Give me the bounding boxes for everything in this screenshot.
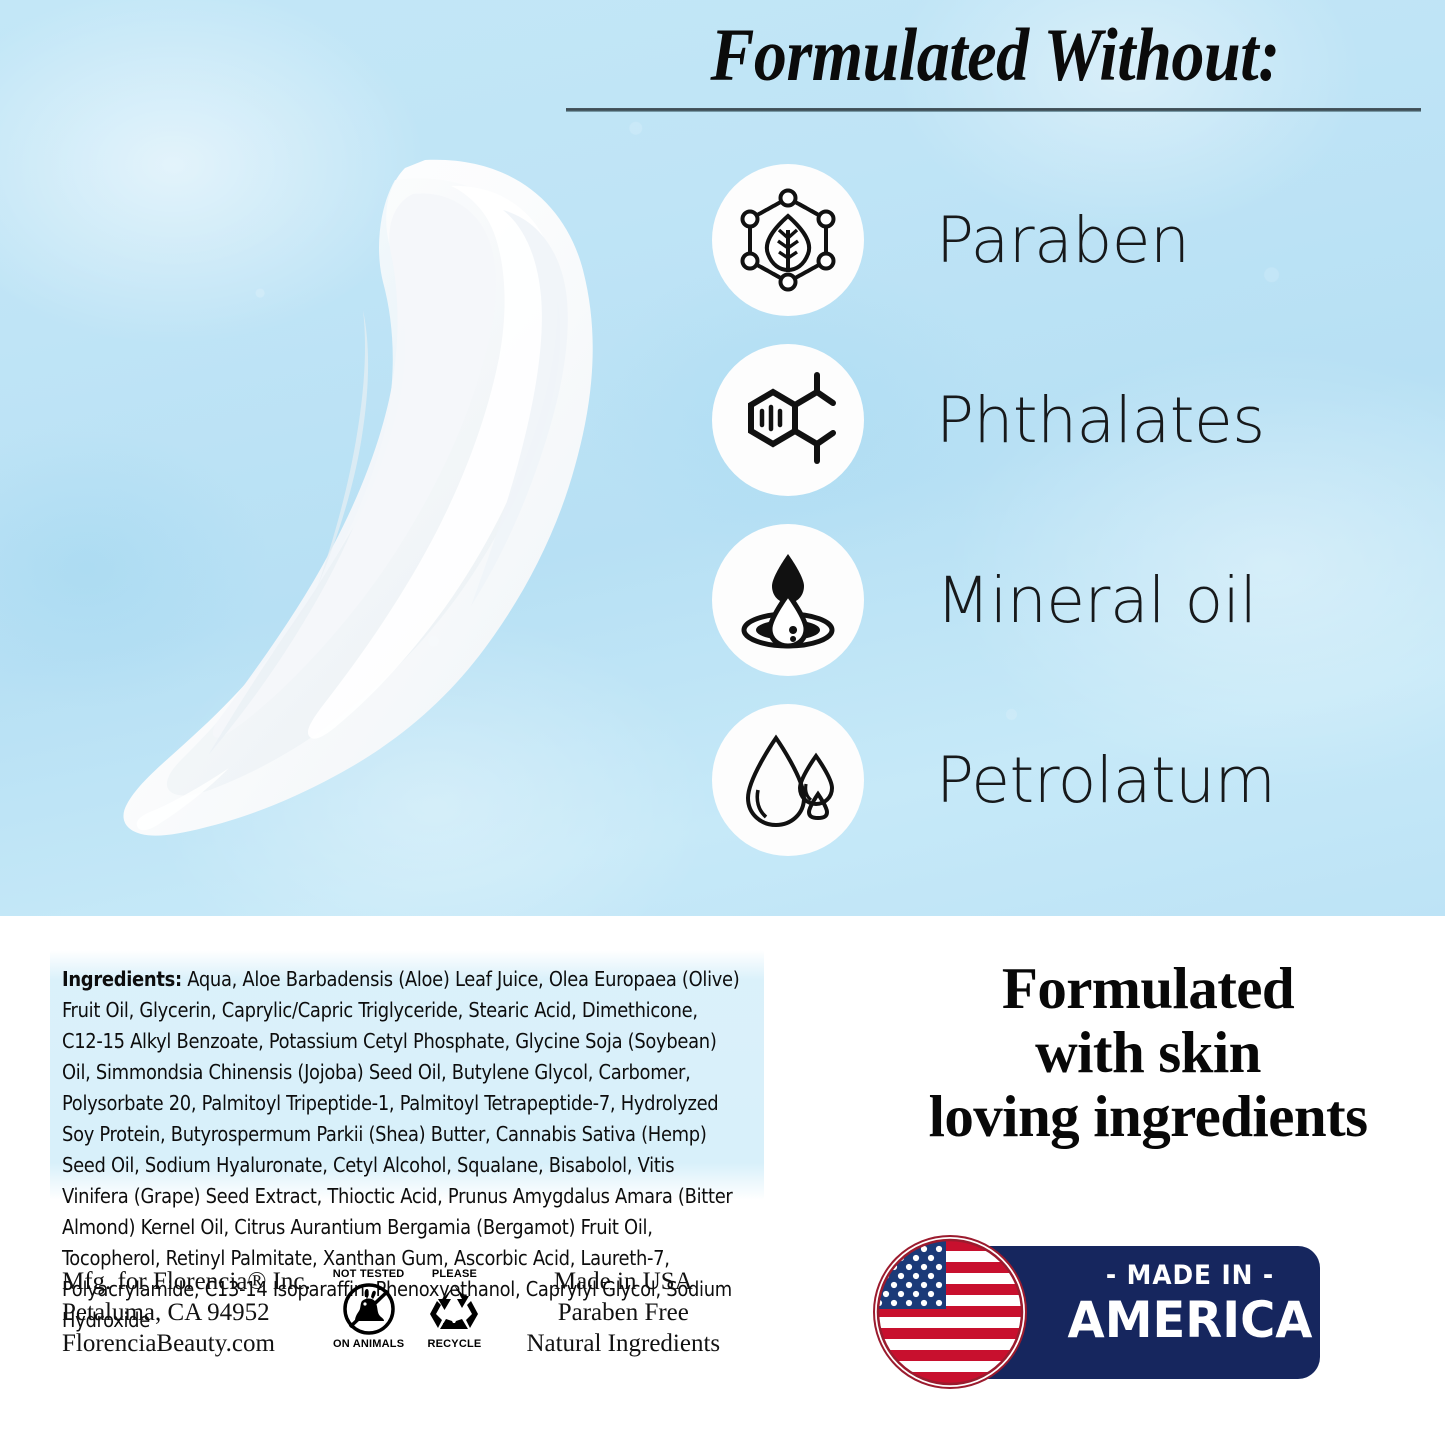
made-in-america-text: - MADE IN - AMERICA	[1060, 1260, 1320, 1348]
skin-headline-line-3: loving ingredients	[868, 1084, 1428, 1148]
recycle-symbol: PLEASE RECYCLE	[426, 1268, 482, 1350]
origin-claim-3: Natural Ingredients	[526, 1328, 720, 1359]
cruelty-free-symbol: NOT TESTED ON ANIMALS	[333, 1268, 405, 1350]
molecule-leaf-icon	[734, 186, 842, 294]
benzene-ring-icon	[735, 367, 841, 473]
cruelty-free-bottom-label: ON ANIMALS	[333, 1338, 405, 1350]
blue-background-panel: Formulated Without:	[0, 0, 1445, 916]
skin-headline: Formulated with skin loving ingredients	[868, 956, 1428, 1148]
skin-headline-line-2: with skin	[868, 1020, 1428, 1084]
claim-badge	[712, 704, 864, 856]
recycle-bottom-label: RECYCLE	[426, 1338, 482, 1350]
origin-claims: Made in USA Paraben Free Natural Ingredi…	[526, 1266, 720, 1359]
manufacturer-line-1: Mfg. for Florencia® Inc.	[62, 1266, 311, 1297]
claim-label-mineral-oil: Mineral oil	[936, 569, 1257, 632]
cream-swatch	[95, 150, 665, 850]
product-marketing-image: Formulated Without:	[0, 0, 1445, 1445]
usa-flag-circle-icon	[870, 1232, 1030, 1392]
claims-list: Paraben	[700, 150, 1445, 870]
claim-label-paraben: Paraben	[936, 209, 1189, 272]
page-title: Formulated Without:	[617, 18, 1374, 93]
manufacturer-line-2: Petaluma, CA 94952	[62, 1297, 311, 1328]
manufacturer-website: FlorenciaBeauty.com	[62, 1328, 311, 1359]
ingredients-heading: Ingredients:	[62, 967, 182, 991]
manufacturer-address: Mfg. for Florencia® Inc. Petaluma, CA 94…	[62, 1266, 311, 1359]
skin-headline-line-1: Formulated	[868, 956, 1428, 1020]
claim-row-petrolatum: Petrolatum	[700, 690, 1445, 870]
claim-badge	[712, 524, 864, 676]
cruelty-free-top-label: NOT TESTED	[333, 1268, 405, 1280]
claim-row-mineral-oil: Mineral oil	[700, 510, 1445, 690]
claim-row-phthalates: Phthalates	[700, 330, 1445, 510]
origin-claim-2: Paraben Free	[526, 1297, 720, 1328]
claim-row-paraben: Paraben	[700, 150, 1445, 330]
claim-badge	[712, 164, 864, 316]
recycle-top-label: PLEASE	[426, 1268, 482, 1280]
water-droplets-icon	[736, 728, 840, 832]
claim-badge	[712, 344, 864, 496]
made-in-label: - MADE IN -	[1070, 1260, 1309, 1292]
claim-label-phthalates: Phthalates	[936, 389, 1265, 452]
lower-info-panel: Ingredients: Aqua, Aloe Barbadensis (Alo…	[0, 916, 1445, 1445]
origin-claim-1: Made in USA	[526, 1266, 720, 1297]
recycle-icon	[426, 1281, 482, 1337]
america-label: AMERICA	[1065, 1292, 1315, 1348]
footer-info: Mfg. for Florencia® Inc. Petaluma, CA 94…	[62, 1266, 762, 1376]
rabbit-no-test-icon	[333, 1281, 405, 1337]
made-in-america-badge: - MADE IN - AMERICA	[870, 1232, 1320, 1392]
oil-droplet-pool-icon	[736, 548, 840, 652]
claim-label-petrolatum: Petrolatum	[936, 749, 1275, 812]
title-divider	[566, 108, 1421, 112]
